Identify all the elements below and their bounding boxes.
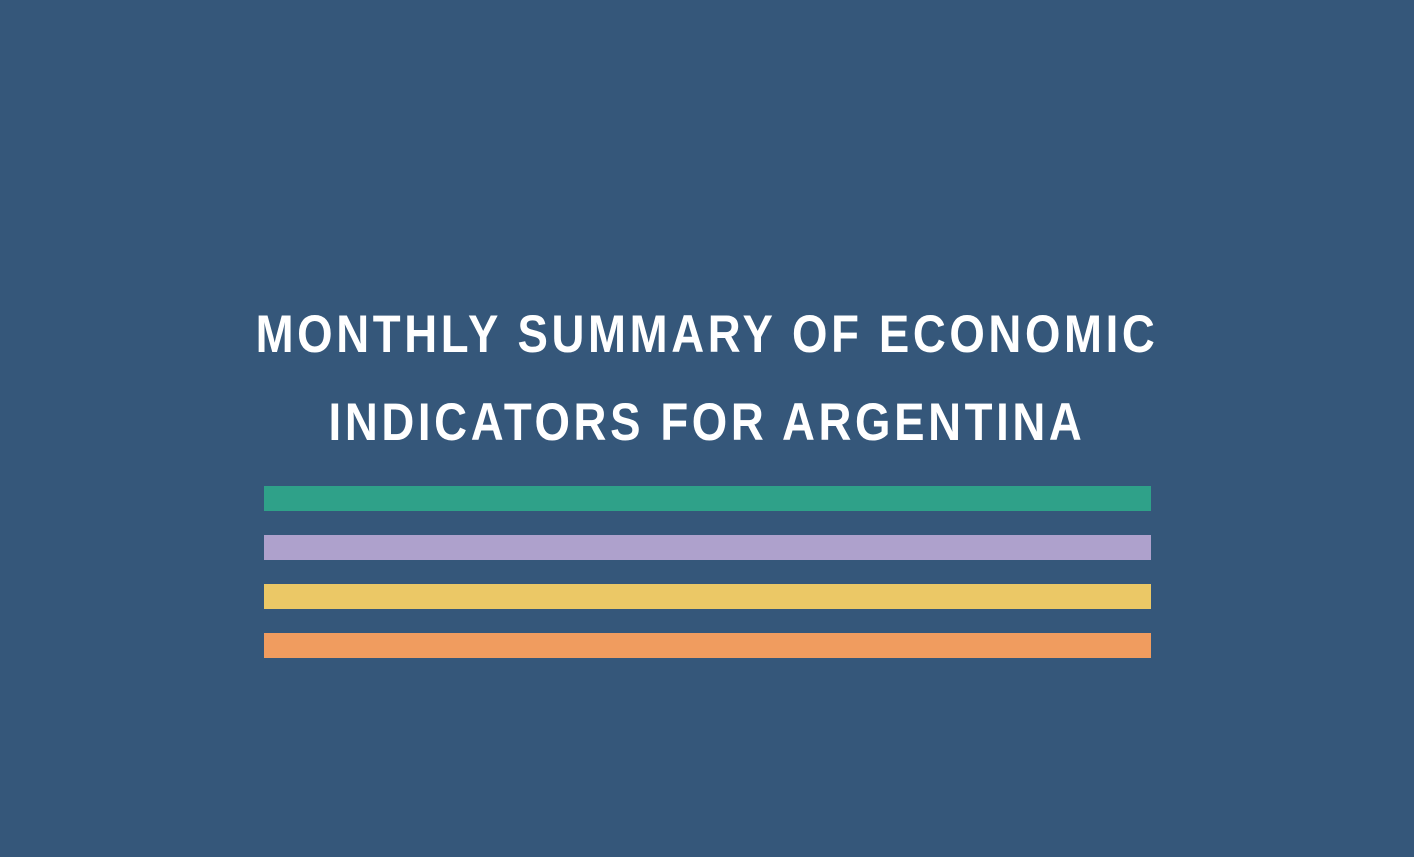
bar-row [264,584,1151,633]
teal-bar [264,486,1151,511]
title-line-2: INDICATORS FOR ARGENTINA [99,379,1315,467]
title-line-1: MONTHLY SUMMARY OF ECONOMIC [99,291,1315,379]
purple-bar [264,535,1151,560]
page-title: MONTHLY SUMMARY OF ECONOMIC INDICATORS F… [0,291,1414,467]
orange-bar [264,633,1151,658]
bar-row [264,633,1151,682]
bar-row [264,486,1151,535]
decorative-bar-group [264,486,1151,682]
title-slide: MONTHLY SUMMARY OF ECONOMIC INDICATORS F… [0,0,1414,857]
yellow-bar [264,584,1151,609]
bar-row [264,535,1151,584]
